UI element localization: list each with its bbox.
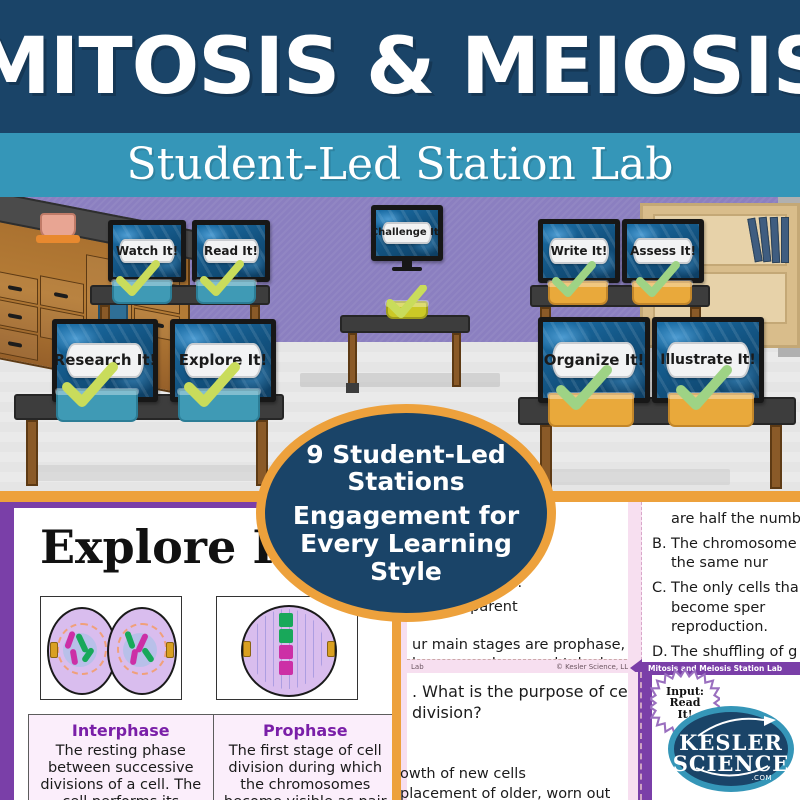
- multiple-choice-list: are half the numb B. The chromosome are …: [652, 510, 800, 687]
- phase-description: The first stage of cell division during …: [220, 743, 392, 800]
- monitor-screen: Read It!: [192, 220, 270, 282]
- station-monitor-write-it[interactable]: Write It!: [538, 219, 620, 283]
- phase-name: Interphase: [35, 721, 207, 740]
- footer-copyright: © Kesler Science, LLC: [556, 663, 628, 671]
- monitor-screen: Illustrate It!: [652, 317, 764, 403]
- station-label: Watch It!: [116, 245, 178, 257]
- choice-letter: C.: [652, 579, 671, 636]
- station-plaque: Illustrate It!: [666, 342, 750, 379]
- monitor-screen: Watch It!: [108, 220, 186, 282]
- station-bin-write-it[interactable]: [548, 281, 608, 305]
- table-foot: [346, 383, 359, 393]
- station-monitor-challenge-it[interactable]: Challenge It!: [371, 205, 443, 261]
- floor-shadow: [30, 465, 270, 481]
- table-leg: [770, 425, 782, 489]
- answer-line: placement of older, worn out: [400, 784, 628, 800]
- station-plaque: Watch It!: [119, 239, 175, 264]
- header-title-bar: MITOSIS & MEIOSIS: [0, 0, 800, 133]
- card-dashed-fold: [640, 672, 642, 800]
- monitor-screen: Assess It!: [622, 219, 704, 283]
- station-monitor-organize-it[interactable]: Organize It!: [538, 317, 650, 403]
- choice-text: The only cells tha will become sper repr…: [671, 579, 800, 636]
- product-cover-image: MITOSIS & MEIOSIS Student-Led Station La…: [0, 0, 800, 800]
- badge-line-2: Engagement for Every Learning Style: [287, 502, 525, 586]
- feature-badge: 9 Student-Led Stations Engagement for Ev…: [256, 404, 556, 622]
- choice-text: are half the numb: [671, 510, 800, 529]
- cell-diagram-1: [40, 596, 182, 700]
- station-label: Challenge It!: [371, 228, 443, 238]
- station-label: Organize It!: [544, 353, 645, 368]
- station-bin-challenge-it[interactable]: [386, 301, 428, 319]
- station-bin-read-it[interactable]: [196, 280, 256, 304]
- logo-line2: SCIENCE: [668, 751, 794, 776]
- station-plaque: Challenge It!: [382, 222, 433, 244]
- monitor-screen: Challenge It!: [371, 205, 443, 261]
- station-label: Research It!: [54, 353, 157, 368]
- phase-description: The resting phase between successive div…: [35, 743, 207, 800]
- table-leg: [348, 333, 357, 387]
- monitor-base: [392, 267, 422, 271]
- worksheet-answers: owth of new cells placement of older, wo…: [400, 764, 628, 800]
- station-label: Read It!: [204, 245, 258, 257]
- station-bin-organize-it[interactable]: [548, 393, 634, 427]
- choice-text: The chromosome are the same nur: [671, 535, 800, 573]
- choice-letter: B.: [652, 535, 671, 573]
- monitor-screen: Write It!: [538, 219, 620, 283]
- station-label: Explore It!: [179, 353, 268, 368]
- monitor-screen: Organize It!: [538, 317, 650, 403]
- station-bin-explore-it[interactable]: [178, 389, 260, 422]
- footer-left-text: Lab: [411, 663, 424, 671]
- kesler-science-logo: KESLER SCIENCE .COM: [668, 706, 794, 792]
- station-label: Write It!: [551, 245, 608, 257]
- worksheet-question: . What is the purpose of cell division?: [412, 682, 628, 724]
- station-monitor-read-it[interactable]: Read It!: [192, 220, 270, 282]
- cell-diagram-2: [216, 596, 358, 700]
- station-plaque: Read It!: [203, 239, 259, 264]
- station-label: Assess It!: [630, 245, 696, 257]
- answer-line: owth of new cells: [400, 764, 628, 784]
- station-monitor-illustrate-it[interactable]: Illustrate It!: [652, 317, 764, 403]
- page-subtitle: Student-Led Station Lab: [127, 143, 674, 187]
- station-plaque: Assess It!: [633, 238, 692, 264]
- station-plaque: Write It!: [549, 238, 608, 264]
- header-subtitle-bar: Student-Led Station Lab: [0, 133, 800, 197]
- table-leg: [452, 333, 461, 387]
- phase-cell: Prophase The first stage of cell divisio…: [213, 715, 393, 800]
- phase-cell: Interphase The resting phase between suc…: [29, 715, 213, 800]
- station-monitor-assess-it[interactable]: Assess It!: [622, 219, 704, 283]
- choice-item[interactable]: are half the numb: [652, 510, 800, 529]
- station-monitor-watch-it[interactable]: Watch It!: [108, 220, 186, 282]
- station-bin-assess-it[interactable]: [632, 281, 692, 305]
- choice-letter: [652, 510, 671, 529]
- card-left-pink-bar: [628, 672, 638, 800]
- worksheet-footer: Lab © Kesler Science, LLC: [407, 659, 628, 673]
- station-bin-watch-it[interactable]: [112, 280, 172, 304]
- station-plaque: Organize It!: [552, 342, 636, 379]
- station-label: Illustrate It!: [660, 353, 756, 367]
- badge-line-1: 9 Student-Led Stations: [287, 441, 525, 496]
- page-title: MITOSIS & MEIOSIS: [0, 28, 800, 106]
- phase-table: Interphase The resting phase between suc…: [28, 714, 392, 800]
- choice-item[interactable]: C. The only cells tha will become sper r…: [652, 579, 800, 636]
- table-leg: [26, 420, 38, 486]
- station-bin-illustrate-it[interactable]: [668, 393, 754, 427]
- station-bin-research-it[interactable]: [56, 389, 138, 422]
- book-icon: [781, 217, 789, 263]
- phase-name: Prophase: [220, 721, 392, 740]
- choice-item[interactable]: B. The chromosome are the same nur: [652, 535, 800, 573]
- logo-dotcom: .COM: [751, 774, 772, 782]
- station-plaque: Research It!: [66, 343, 145, 378]
- cell-diagram-row: [40, 596, 392, 700]
- floor-shadow: [300, 373, 500, 387]
- station-plaque: Explore It!: [184, 343, 263, 378]
